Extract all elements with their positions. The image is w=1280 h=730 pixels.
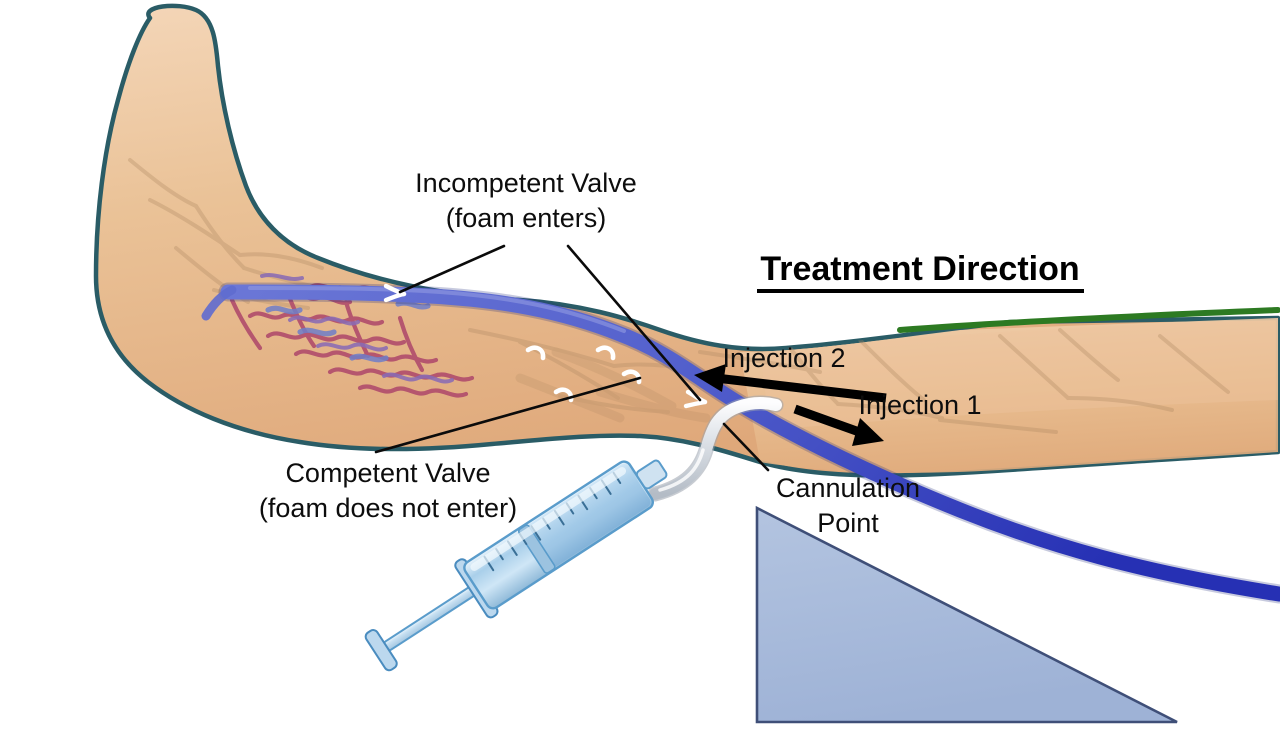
label-incompetent-valve-line2: (foam enters) bbox=[446, 203, 607, 233]
label-cannulation-point-line1: Cannulation bbox=[776, 473, 920, 503]
label-cannulation-point-line2: Point bbox=[817, 508, 879, 538]
inclined-support-wedge bbox=[757, 508, 1177, 722]
diagram-svg: Treatment Direction Incompetent Valve (f… bbox=[0, 0, 1280, 730]
figure-canvas: Treatment Direction Incompetent Valve (f… bbox=[0, 0, 1280, 730]
syringe-plunger-rod bbox=[383, 584, 479, 651]
label-competent-valve-line1: Competent Valve bbox=[285, 458, 490, 488]
syringe-thumb-pad bbox=[364, 628, 399, 672]
label-injection-2: Injection 2 bbox=[722, 343, 845, 373]
label-competent-valve-line2: (foam does not enter) bbox=[259, 493, 517, 523]
label-incompetent-valve-line1: Incompetent Valve bbox=[415, 168, 637, 198]
page-title: Treatment Direction bbox=[760, 250, 1079, 288]
label-injection-1: Injection 1 bbox=[858, 390, 981, 420]
leader-incompetent-valve bbox=[400, 246, 504, 292]
